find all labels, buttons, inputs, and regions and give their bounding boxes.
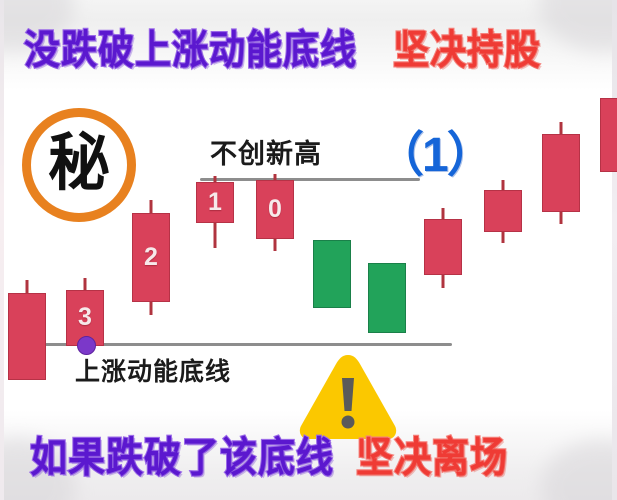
candle-body [8, 293, 46, 380]
candle-body [600, 98, 617, 172]
candle-body [313, 240, 351, 308]
candle-9 [542, 80, 580, 380]
secret-seal-character: 秘 [48, 132, 110, 194]
headline-bottom-right: 坚决离场 [356, 436, 508, 477]
candle-body [256, 180, 294, 239]
candle-body [424, 219, 462, 275]
top-headline-band: 没跌破上涨动能底线 坚决持股 [0, 22, 617, 78]
headline-bottom-left: 如果跌破了该底线 [30, 436, 334, 477]
candle-5 [313, 80, 351, 380]
infographic-canvas: 没跌破上涨动能底线 坚决持股 3210 秘 不创新高 上涨动能底线 （1） 如果… [0, 0, 617, 500]
headline-top-left: 没跌破上涨动能底线 [24, 30, 357, 70]
candle-body [484, 190, 522, 232]
candle-3-labeled-1: 1 [196, 80, 234, 380]
step-marker-one: （1） [376, 115, 493, 185]
candle-body [542, 134, 580, 212]
candle-10 [600, 80, 617, 380]
candle-body [132, 213, 170, 302]
label-uptrend-baseline: 上涨动能底线 [75, 352, 231, 388]
candle-body [196, 182, 234, 223]
candle-body [368, 263, 406, 333]
label-no-new-high: 不创新高 [210, 132, 322, 171]
candle-4-labeled-0: 0 [256, 80, 294, 380]
bottom-headline-band: 如果跌破了该底线 坚决离场 [0, 428, 617, 486]
candle-2-labeled-2: 2 [132, 80, 170, 380]
secret-seal-badge: 秘 [22, 108, 136, 222]
headline-top-right: 坚决持股 [393, 30, 541, 70]
